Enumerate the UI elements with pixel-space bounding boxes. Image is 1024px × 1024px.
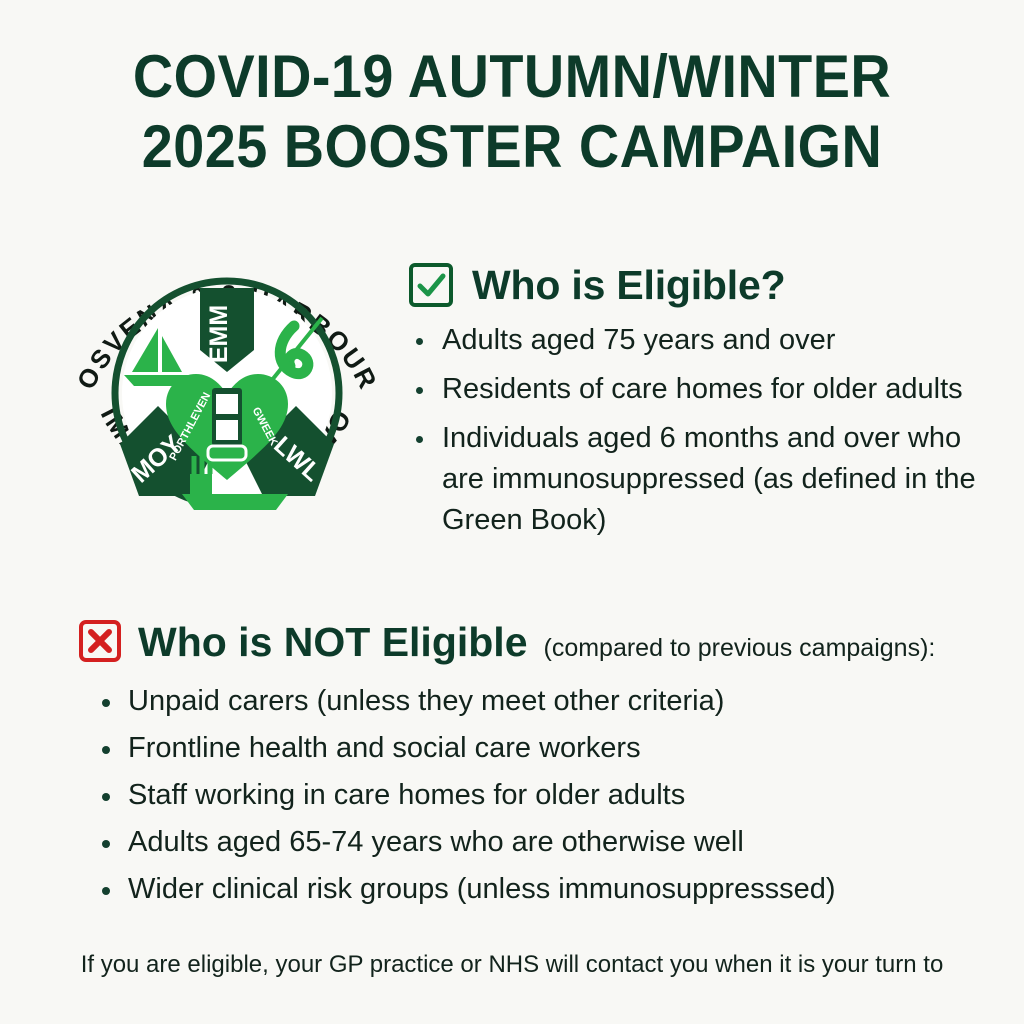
title-line-1: COVID-19 AUTUMN/WINTER: [36, 42, 988, 112]
list-item: Individuals aged 6 months and over who a…: [408, 418, 1008, 541]
eligible-heading-row: Who is Eligible?: [408, 262, 1008, 308]
eligible-heading: Who is Eligible?: [472, 262, 785, 308]
x-box-icon: [78, 619, 122, 663]
poster-root: COVID-19 AUTUMN/WINTER 2025 BOOSTER CAMP…: [0, 0, 1024, 1024]
checkbox-checked-icon: [408, 262, 454, 308]
logo-banner-top-label: EMM: [205, 305, 233, 363]
pcn-logo: BOSVENA & 3 HARBOURS PRIMARY CARE NETWOR…: [62, 222, 392, 552]
list-item: Residents of care homes for older adults: [408, 369, 1008, 410]
list-item: Adults aged 65-74 years who are otherwis…: [92, 819, 1008, 866]
not-eligible-heading: Who is NOT Eligible: [138, 620, 528, 664]
list-item: Adults aged 75 years and over: [408, 320, 1008, 361]
eligible-section: Who is Eligible? Adults aged 75 years an…: [408, 262, 1008, 549]
footer-note: If you are eligible, your GP practice or…: [0, 948, 1024, 982]
not-eligible-section: Who is NOT Eligible (compared to previou…: [78, 612, 1008, 913]
list-item: Frontline health and social care workers: [92, 725, 1008, 772]
logo-svg: BOSVENA & 3 HARBOURS PRIMARY CARE NETWOR…: [62, 222, 392, 552]
eligible-list: Adults aged 75 years and over Residents …: [408, 320, 1008, 541]
not-eligible-heading-row: Who is NOT Eligible (compared to previou…: [78, 612, 1008, 664]
list-item: Unpaid carers (unless they meet other cr…: [92, 678, 1008, 725]
list-item: Wider clinical risk groups (unless immun…: [92, 866, 1008, 913]
list-item: Staff working in care homes for older ad…: [92, 772, 1008, 819]
not-eligible-heading-note: (compared to previous campaigns):: [544, 633, 936, 663]
lighthouse-icon: [208, 388, 246, 460]
title-line-2: 2025 BOOSTER CAMPAIGN: [36, 112, 988, 182]
page-title: COVID-19 AUTUMN/WINTER 2025 BOOSTER CAMP…: [0, 42, 1024, 182]
not-eligible-list: Unpaid carers (unless they meet other cr…: [92, 678, 1008, 913]
